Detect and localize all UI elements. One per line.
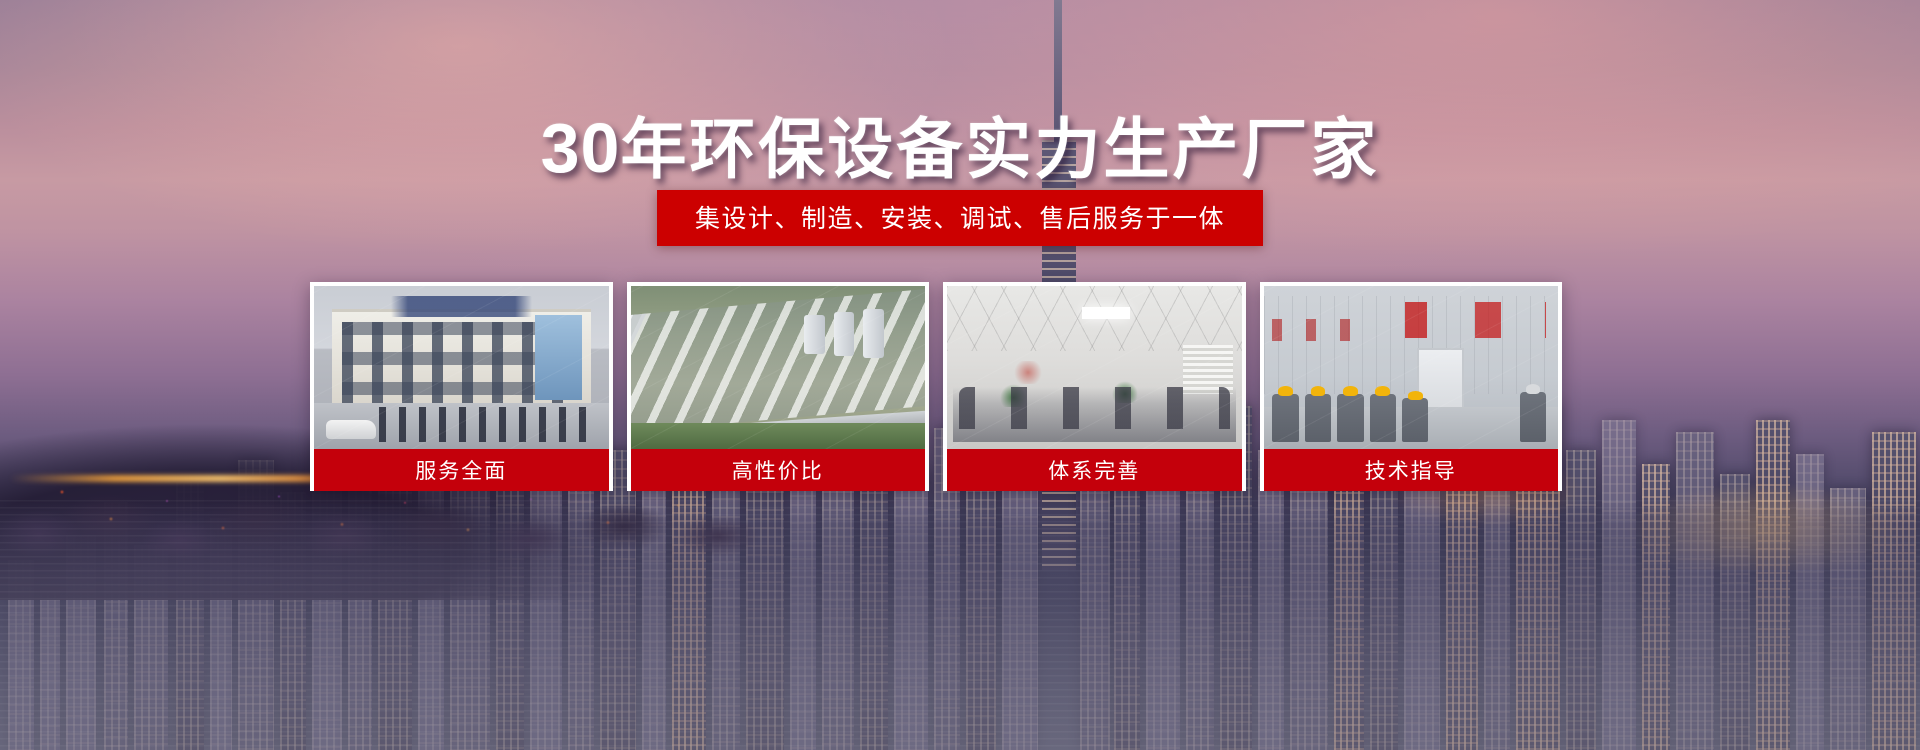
parked-car [326,420,376,440]
storage-silo [804,315,825,354]
greenery [631,423,926,449]
card-photo-industrial-plant [631,286,926,449]
headline-number: 30 [541,109,621,187]
river-water [0,500,1920,750]
seated-employees [959,387,1230,429]
supervisor [1520,392,1547,443]
subtitle-bar: 集设计、制造、安装、调试、售后服务于一体 [657,190,1263,246]
glass-facade [535,315,582,400]
card-label: 高性价比 [631,449,926,491]
card-label: 体系完善 [947,449,1242,491]
worker-with-helmet [1370,394,1397,443]
factory-slogan-large [1405,302,1546,338]
feature-card[interactable]: 高性价比 [627,282,930,491]
staff-lineup [379,407,597,443]
feature-card[interactable]: 体系完善 [943,282,1246,491]
feature-card-list: 服务全面 高性价比 [310,282,1562,491]
worker-with-helmet [1337,394,1364,443]
worker-with-helmet [1402,398,1429,442]
card-photo-office-interior [947,286,1242,449]
worker-with-helmet [1272,394,1299,443]
wall-decal [1012,361,1044,384]
card-photo-company-building [314,286,609,449]
headline-text: 年环保设备实力生产厂家 [620,112,1379,186]
feature-card[interactable]: 服务全面 [310,282,613,491]
hero-banner: 30年环保设备实力生产厂家 集设计、制造、安装、调试、售后服务于一体 服务全面 [0,0,1920,750]
factory-slogan-small [1272,319,1372,342]
card-label: 服务全面 [314,449,609,491]
company-sign [391,296,532,317]
page-title: 30年环保设备实力生产厂家 [0,96,1920,192]
storage-silo [863,309,884,358]
subtitle-bar-wrapper: 集设计、制造、安装、调试、售后服务于一体 [0,190,1920,246]
storage-silo [834,312,855,356]
ceiling-grid [947,286,1242,351]
worker-with-helmet [1305,394,1332,443]
card-label: 技术指导 [1264,449,1559,491]
feature-card[interactable]: 技术指导 [1260,282,1563,491]
card-photo-factory-workers [1264,286,1559,449]
ceiling-lamp [1082,307,1129,318]
